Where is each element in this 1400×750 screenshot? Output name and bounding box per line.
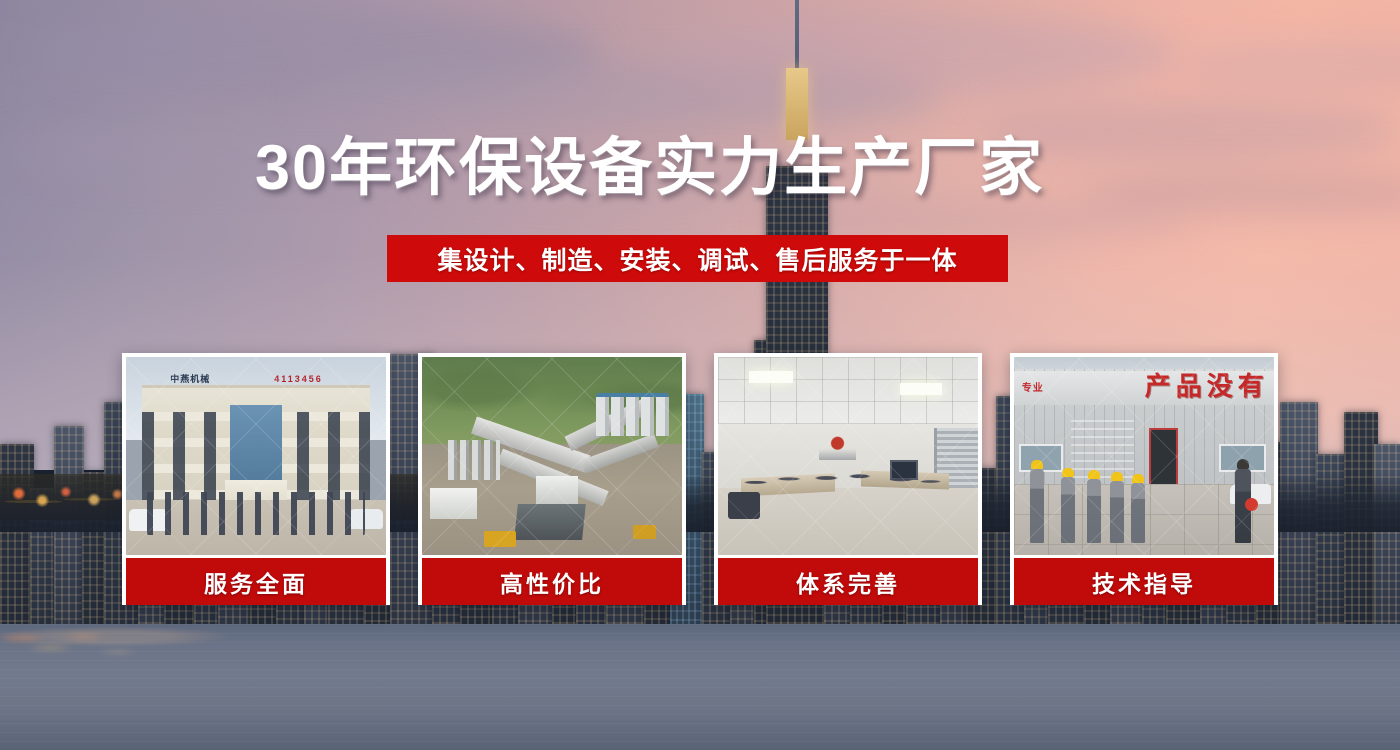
office-interior-staff-photo (718, 357, 978, 555)
aerial-industrial-plant-photo (422, 357, 682, 555)
worker-figure (1061, 477, 1075, 543)
promotional-banner: 30年环保设备实力生产厂家 集设计、制造、安装、调试、售后服务于一体 中燕机械 … (0, 0, 1400, 750)
card-caption-label: 技术指导 (1092, 565, 1196, 599)
building-phone-text: 4113456 (274, 371, 378, 387)
factory-slogan-large: 产品没有 (1134, 369, 1269, 401)
card-caption-label: 体系完善 (796, 565, 900, 599)
water-reflection (0, 624, 420, 694)
card-caption: 体系完善 (718, 558, 978, 605)
feature-card-system[interactable]: 体系完善 (714, 353, 982, 605)
card-caption: 技术指导 (1014, 558, 1274, 605)
factory-workers-training-photo: 产品没有 专业 (1014, 357, 1274, 555)
company-headquarters-building-photo: 中燕机械 4113456 (126, 357, 386, 555)
subtitle-banner: 集设计、制造、安装、调试、售后服务于一体 (387, 235, 1008, 282)
worker-figure (1110, 481, 1124, 543)
feature-card-service[interactable]: 中燕机械 4113456 服务全面 (122, 353, 390, 605)
worker-figure (1087, 479, 1101, 543)
worker-figure (1030, 469, 1044, 543)
river-water (0, 624, 1400, 750)
feature-card-value[interactable]: 高性价比 (418, 353, 686, 605)
tower-spire (795, 0, 799, 74)
staff-lineup (147, 492, 365, 536)
worker-figure (1131, 483, 1145, 543)
card-caption: 服务全面 (126, 558, 386, 605)
tower-crown-lights (786, 68, 808, 140)
card-caption-label: 服务全面 (204, 565, 308, 599)
feature-card-guidance[interactable]: 产品没有 专业 技术指导 (1010, 353, 1278, 605)
building-sign-text: 中燕机械 (170, 371, 258, 387)
page-title: 30年环保设备实力生产厂家 (255, 134, 1044, 202)
card-caption-label: 高性价比 (500, 565, 604, 599)
factory-slogan-small: 专业 (1022, 373, 1126, 401)
subtitle-text: 集设计、制造、安装、调试、售后服务于一体 (437, 241, 957, 277)
card-caption: 高性价比 (422, 558, 682, 605)
feature-card-row: 中燕机械 4113456 服务全面 (122, 353, 1278, 605)
